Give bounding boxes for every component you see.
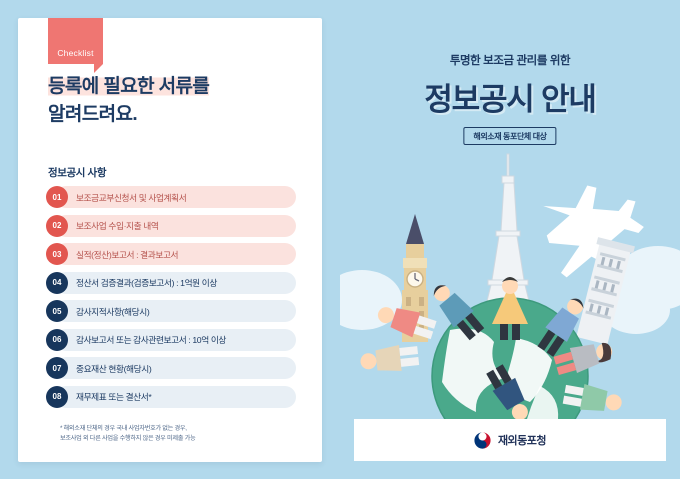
checklist-row-number: 08 [46, 386, 68, 408]
section-label: 정보공시 사항 [48, 165, 106, 180]
agency-name: 재외동포청 [498, 432, 546, 448]
checklist-row-number: 03 [46, 243, 68, 265]
tab-fold-icon [94, 64, 103, 73]
checklist-row-label: 감사보고서 또는 감사관련보고서 : 10억 이상 [76, 333, 226, 346]
left-panel: Checklist 등록에 필요한 서류를 알려드려요. 정보공시 사항 01보… [0, 0, 340, 479]
headline-line-2: 알려드려요. [48, 102, 298, 127]
checklist-row-label: 정산서 검증결과(검증보고서) : 1억원 이상 [76, 276, 217, 289]
page-title: 등록에 필요한 서류를 알려드려요. [48, 74, 298, 127]
checklist-row-number: 07 [46, 357, 68, 379]
checklist-row: 06감사보고서 또는 감사관련보고서 : 10억 이상 [46, 329, 296, 351]
poster: Checklist 등록에 필요한 서류를 알려드려요. 정보공시 사항 01보… [0, 0, 680, 479]
checklist-row: 04정산서 검증결과(검증보고서) : 1억원 이상 [46, 272, 296, 294]
checklist-row: 05감사지적사항(해당시) [46, 300, 296, 322]
checklist-items: 01보조금교부신청서 및 사업계획서02보조사업 수입·지출 내역03실적(정산… [46, 186, 296, 414]
main-title: 정보공시 안내 [340, 74, 680, 119]
checklist-row-label: 중요재산 현황(해당시) [76, 362, 151, 375]
kicker-text: 투명한 보조금 관리를 위한 [340, 52, 680, 68]
right-panel: 투명한 보조금 관리를 위한 정보공시 안내 해외소재 동포단체 대상 [340, 0, 680, 479]
illustration [340, 150, 680, 440]
footnote: * 해외소재 단체의 경우 국내 사업자번호가 없는 경우, 보조사업 외 다른… [60, 424, 300, 443]
checklist-tab-label: Checklist [48, 48, 103, 58]
checklist-row-number: 05 [46, 300, 68, 322]
checklist-row-label: 보조금교부신청서 및 사업계획서 [76, 191, 186, 204]
checklist-row: 08재무제표 또는 결산서* [46, 386, 296, 408]
footnote-line-2: 보조사업 외 다른 사업을 수행하지 않은 경우 미제출 가능 [60, 434, 300, 444]
checklist-tab: Checklist [48, 18, 103, 64]
checklist-row: 03실적(정산)보고서 : 결과보고서 [46, 243, 296, 265]
footnote-line-1: * 해외소재 단체의 경우 국내 사업자번호가 없는 경우, [60, 424, 300, 434]
checklist-row-label: 보조사업 수입·지출 내역 [76, 219, 158, 232]
checklist-row-label: 감사지적사항(해당시) [76, 305, 149, 318]
checklist-row: 02보조사업 수입·지출 내역 [46, 215, 296, 237]
checklist-card: Checklist 등록에 필요한 서류를 알려드려요. 정보공시 사항 01보… [18, 18, 322, 462]
headline-line-1: 등록에 필요한 서류를 [48, 76, 209, 97]
checklist-row: 01보조금교부신청서 및 사업계획서 [46, 186, 296, 208]
checklist-row-label: 실적(정산)보고서 : 결과보고서 [76, 248, 178, 261]
checklist-row-number: 01 [46, 186, 68, 208]
footer-logo-band: 재외동포청 [354, 419, 666, 461]
checklist-row-label: 재무제표 또는 결산서* [76, 390, 151, 403]
checklist-row-number: 02 [46, 215, 68, 237]
audience-badge: 해외소재 동포단체 대상 [463, 127, 556, 145]
checklist-row-number: 06 [46, 329, 68, 351]
taegeuk-logo-icon [474, 432, 491, 449]
checklist-row-number: 04 [46, 272, 68, 294]
checklist-row: 07중요재산 현황(해당시) [46, 357, 296, 379]
